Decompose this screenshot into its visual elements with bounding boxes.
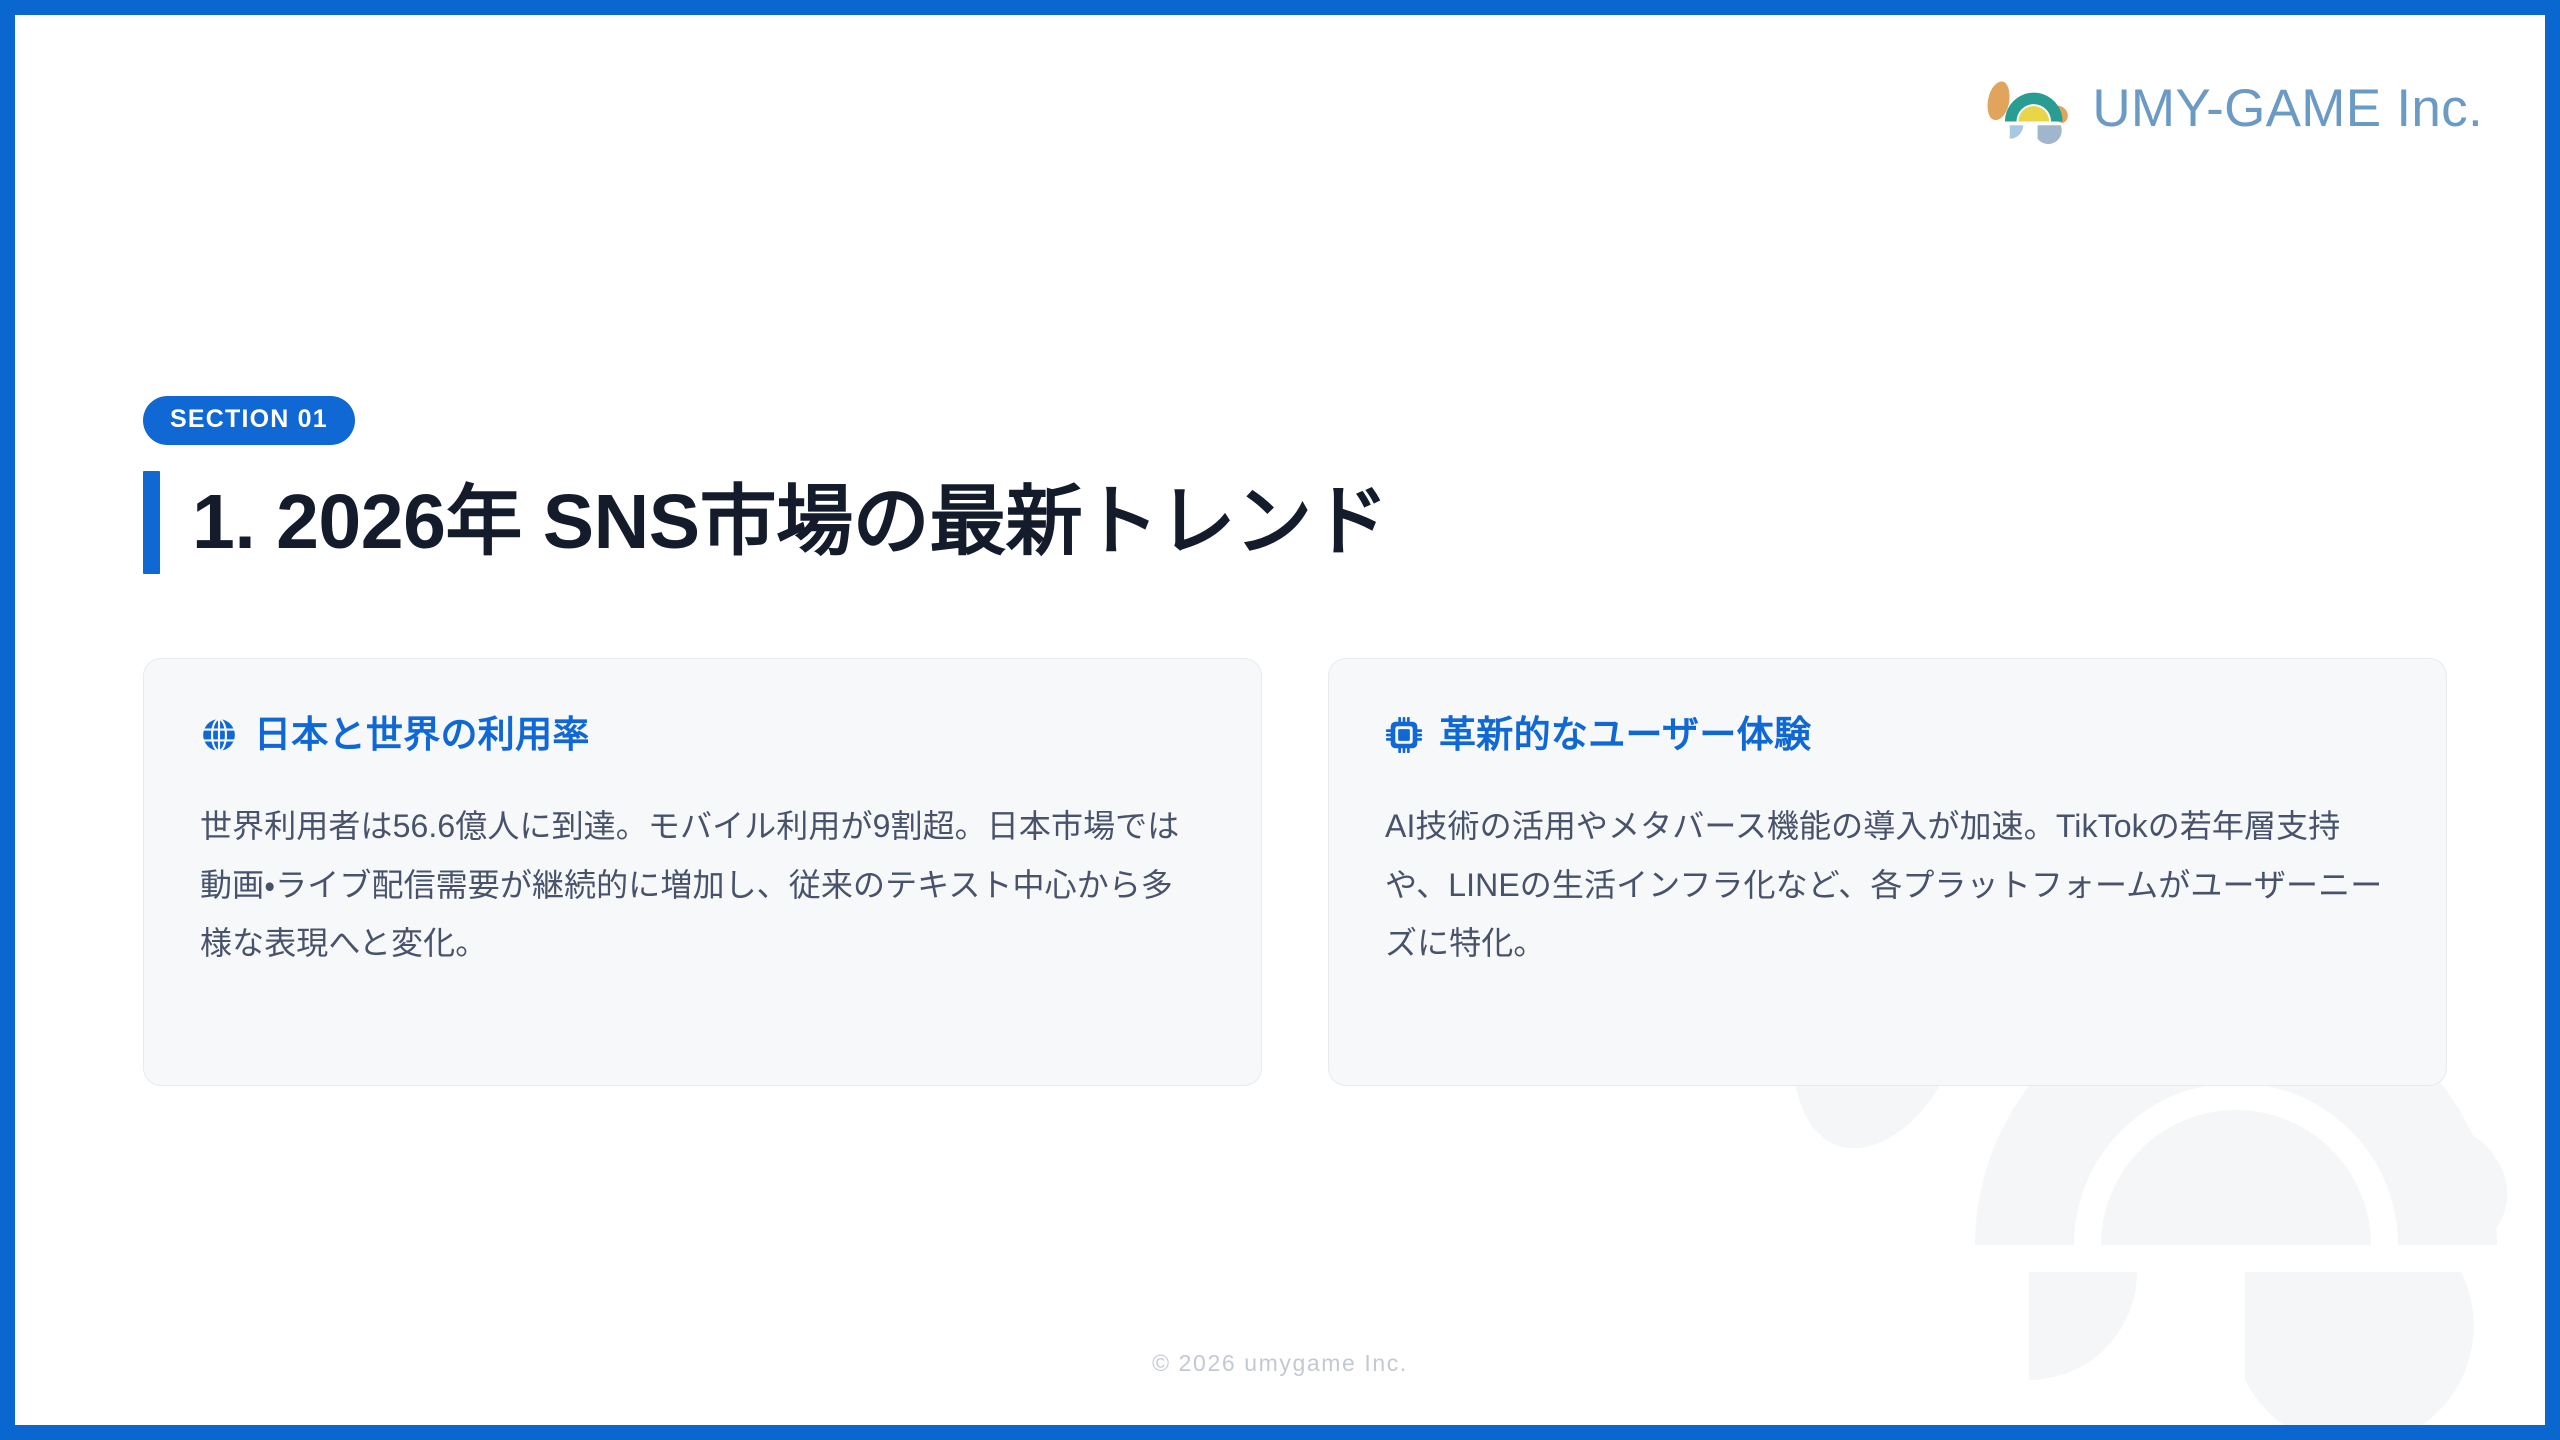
card-header: 日本と世界の利用率 [200,713,1205,757]
page-title: 1. 2026年 SNS市場の最新トレンド [192,471,1388,574]
content-card-list: 日本と世界の利用率 世界利用者は56.6億人に到達。モバイル利用が9割超。日本市… [143,658,2447,1086]
cpu-chip-icon [1385,716,1423,754]
section-badge: SECTION 01 [143,396,355,445]
footer-copyright: © 2026 umygame Inc. [15,1350,2545,1377]
umygame-logo-mark-icon [1980,60,2076,156]
globe-icon [200,716,238,754]
content-card: 日本と世界の利用率 世界利用者は56.6億人に到達。モバイル利用が9割超。日本市… [143,658,1262,1086]
slide-root: UMY-GAME Inc. SECTION 01 1. 2026年 SNS市場の… [0,0,2560,1440]
card-title: 革新的なユーザー体験 [1439,713,1811,757]
card-body-text: AI技術の活用やメタバース機能の導入が加速。TikTokの若年層支持や、LINE… [1385,797,2390,972]
card-body-text: 世界利用者は56.6億人に到達。モバイル利用が9割超。日本市場では動画・ライブ配… [200,797,1205,972]
content-card: 革新的なユーザー体験 AI技術の活用やメタバース機能の導入が加速。TikTokの… [1328,658,2447,1086]
page-title-group: 1. 2026年 SNS市場の最新トレンド [143,471,1388,574]
card-title: 日本と世界の利用率 [254,713,590,757]
brand-logo-text: UMY-GAME Inc. [2092,78,2483,139]
card-header: 革新的なユーザー体験 [1385,713,2390,757]
heading-accent-bar [143,471,160,574]
brand-logo: UMY-GAME Inc. [1980,60,2483,156]
